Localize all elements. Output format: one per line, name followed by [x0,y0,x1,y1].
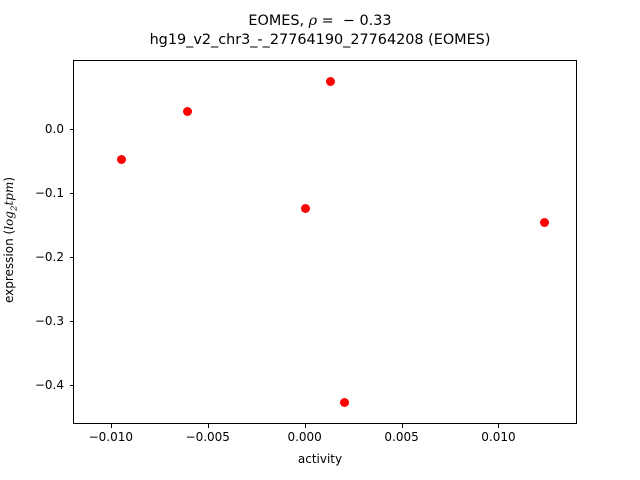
scatter-point [183,107,192,116]
chart-title: EOMES, ρ = − 0.33 hg19_v2_chr3_-_2776419… [0,12,640,50]
y-axis-tick-label: −0.1 [35,186,64,200]
y-axis-tick-label: −0.3 [35,314,64,328]
scatter-plot-figure: EOMES, ρ = − 0.33 hg19_v2_chr3_-_2776419… [0,0,640,480]
x-axis-tick-label: −0.010 [89,430,133,444]
plot-data-area [74,61,576,423]
y-axis-label-suffix: ) [2,177,16,182]
title-line-1: EOMES, ρ = − 0.33 [0,12,640,31]
plot-axes-frame [73,60,577,424]
y-axis-tpm-text: tpm [2,182,16,206]
y-axis-tick [70,385,74,386]
y-axis-tick [70,129,74,130]
y-axis-tick [70,193,74,194]
y-axis-label-prefix: expression ( [2,230,16,303]
rho-symbol: ρ [309,13,317,29]
x-axis-tick [111,424,112,428]
x-axis-tick-label: 0.010 [481,430,515,444]
y-axis-log-text: log [2,211,16,230]
y-axis-label-math: log2tpm [2,182,16,230]
title-gene-prefix: EOMES, [248,13,308,29]
scatter-point [301,204,310,213]
x-axis-tick-label: 0.005 [384,430,418,444]
x-axis-tick-label: −0.005 [186,430,230,444]
y-axis-tick-label: −0.2 [35,250,64,264]
x-axis-tick [208,424,209,428]
x-axis-label: activity [0,452,640,466]
y-axis-log-base: 2 [9,206,19,212]
y-axis-tick [70,257,74,258]
y-axis-label: expression (log2tpm) [0,0,18,480]
x-axis-tick [402,424,403,428]
y-axis-tick-label: 0.0 [45,122,64,136]
scatter-point [117,155,126,164]
y-axis-tick-label: −0.4 [35,378,64,392]
x-axis-tick [305,424,306,428]
y-axis-tick [70,321,74,322]
scatter-point [540,218,549,227]
x-axis-tick [498,424,499,428]
title-rho-value: = − 0.33 [317,13,391,29]
scatter-point [340,398,349,407]
title-line-2: hg19_v2_chr3_-_27764190_27764208 (EOMES) [0,31,640,50]
x-axis-tick-label: 0.000 [287,430,321,444]
scatter-point [326,77,335,86]
